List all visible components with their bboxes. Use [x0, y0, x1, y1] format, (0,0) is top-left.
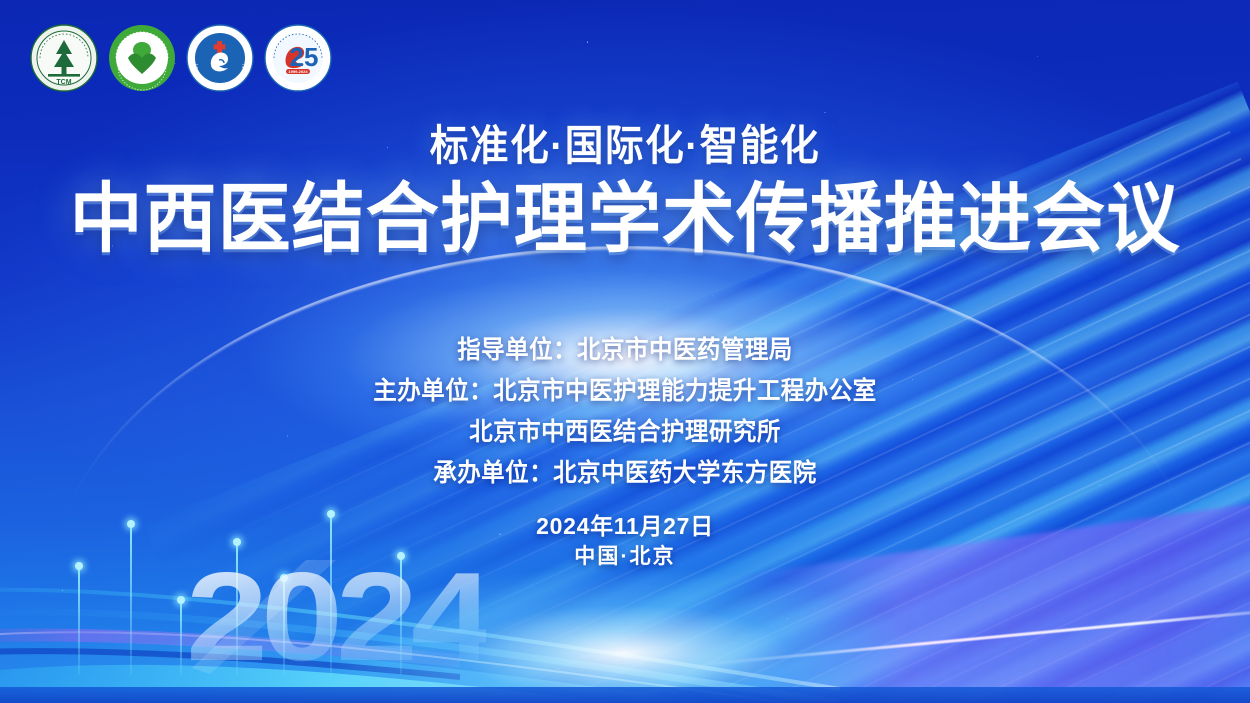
logo-green-emblem — [108, 24, 176, 92]
svg-text:1999-2024: 1999-2024 — [288, 69, 308, 74]
organizer-line-host: 主办单位：北京市中医护理能力提升工程办公室 — [38, 371, 1213, 412]
svg-text:TCM: TCM — [56, 79, 71, 86]
svg-text:25: 25 — [290, 42, 319, 72]
banner-text-content: 标准化·国际化·智能化 中西医结合护理学术传播推进会议 指导单位：北京市中医药管… — [0, 0, 1250, 703]
event-location: 中国·北京 — [0, 542, 1250, 572]
logo-beijing-tcm-university: TCM — [30, 24, 98, 92]
banner-main-title: 中西医结合护理学术传播推进会议 — [25, 182, 1225, 258]
conference-banner: 2024 TCM — [0, 0, 1250, 703]
organizer-line-host-secondary: 北京市中西医结合护理研究所 — [38, 412, 1213, 453]
sponsor-logo-row: TCM — [30, 24, 332, 92]
organizer-line-guidance: 指导单位：北京市中医药管理局 — [38, 330, 1213, 371]
event-meta: 2024年11月27日 中国·北京 — [0, 510, 1250, 572]
organizer-list: 指导单位：北京市中医药管理局 主办单位：北京市中医护理能力提升工程办公室 北京市… — [0, 330, 1250, 494]
event-date: 2024年11月27日 — [0, 510, 1250, 542]
logo-dongfang-hospital — [186, 24, 254, 92]
logo-25th-anniversary: 25 1999-2024 — [264, 24, 332, 92]
banner-subtitle: 标准化·国际化·智能化 — [50, 112, 1200, 173]
organizer-line-undertaker: 承办单位：北京中医药大学东方医院 — [38, 453, 1213, 494]
